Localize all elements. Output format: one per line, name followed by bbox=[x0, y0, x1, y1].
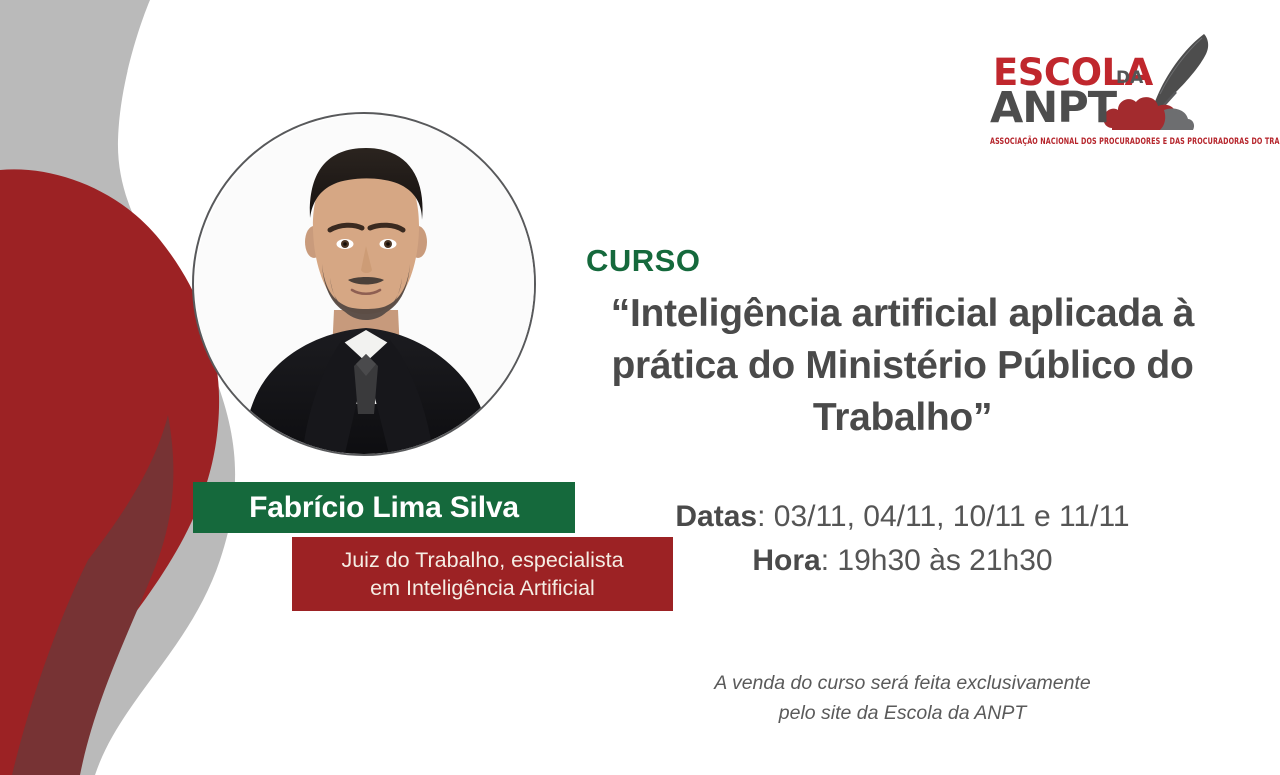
footnote-line-2: pelo site da Escola da ANPT bbox=[545, 698, 1260, 728]
dates-label: Datas bbox=[675, 500, 757, 533]
schedule-block: Datas: 03/11, 04/11, 10/11 e 11/11 Hora:… bbox=[545, 495, 1260, 583]
escola-anpt-logo: ESCOLA DA ANPT ASSOCIAÇÃO NACIONAL DOS P… bbox=[986, 32, 1218, 157]
gray-wave-shape bbox=[0, 0, 235, 775]
dates-value: : 03/11, 04/11, 10/11 e 11/11 bbox=[757, 500, 1130, 533]
footnote-line-1: A venda do curso será feita exclusivamen… bbox=[545, 668, 1260, 698]
course-label: CURSO bbox=[586, 243, 700, 279]
course-title-line-3: Trabalho” bbox=[545, 392, 1260, 444]
speaker-name-text: Fabrício Lima Silva bbox=[249, 491, 519, 525]
time-value: : 19h30 às 21h30 bbox=[821, 544, 1053, 577]
inkwell-icon bbox=[1102, 88, 1202, 138]
speaker-portrait bbox=[192, 112, 536, 456]
time-label: Hora bbox=[752, 544, 820, 577]
dark-red-overlay-shape bbox=[12, 415, 173, 775]
logo-da-text: DA bbox=[1116, 70, 1143, 87]
course-title-line-2: prática do Ministério Público do bbox=[545, 340, 1260, 392]
logo-anpt-text: ANPT bbox=[990, 87, 1116, 130]
course-title: “Inteligência artificial aplicada à prát… bbox=[545, 288, 1260, 444]
time-line: Hora: 19h30 às 21h30 bbox=[545, 539, 1260, 583]
red-blob-shape bbox=[0, 169, 219, 775]
sales-footnote: A venda do curso será feita exclusivamen… bbox=[545, 668, 1260, 728]
dates-line: Datas: 03/11, 04/11, 10/11 e 11/11 bbox=[545, 495, 1260, 539]
course-promo-poster: ESCOLA DA ANPT ASSOCIAÇÃO NACIONAL DOS P… bbox=[0, 0, 1280, 775]
speaker-photo bbox=[194, 114, 536, 456]
speaker-name-banner: Fabrício Lima Silva bbox=[193, 482, 575, 533]
logo-tagline-text: ASSOCIAÇÃO NACIONAL DOS PROCURADORES E D… bbox=[990, 136, 1195, 147]
course-title-line-1: “Inteligência artificial aplicada à bbox=[545, 288, 1260, 340]
